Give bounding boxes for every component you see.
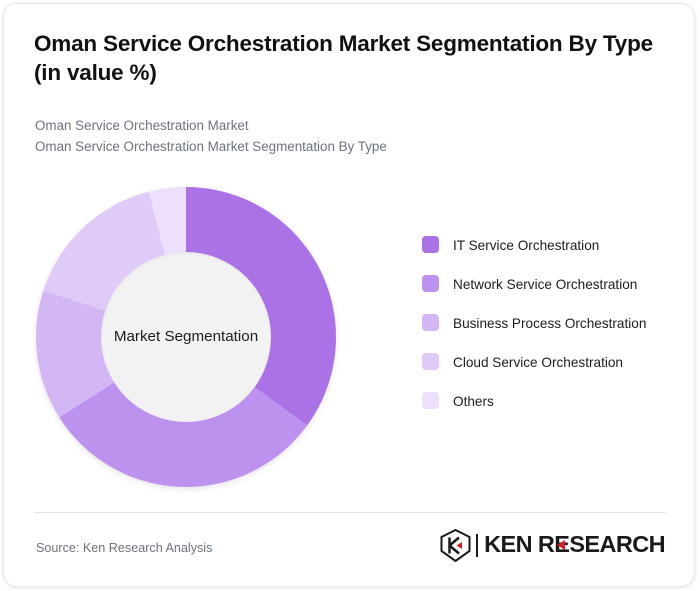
legend-item[interactable]: Others [422, 391, 684, 413]
subtitle-line-1: Oman Service Orchestration Market [35, 116, 655, 137]
logo-text-ken: KEN R [484, 533, 554, 557]
legend-swatch [422, 392, 439, 409]
chart-legend: IT Service OrchestrationNetwork Service … [422, 235, 684, 430]
chart-card: Oman Service Orchestration Market Segmen… [3, 3, 695, 587]
source-note: Source: Ken Research Analysis [36, 541, 212, 555]
legend-item[interactable]: Cloud Service Orchestration [422, 352, 684, 374]
legend-item[interactable]: Business Process Orchestration [422, 313, 684, 335]
subtitle-block: Oman Service Orchestration Market Oman S… [35, 116, 655, 158]
logo-wordmark: KEN R E SEARCH [484, 533, 665, 557]
legend-label: Cloud Service Orchestration [453, 352, 623, 374]
legend-label: IT Service Orchestration [453, 235, 599, 257]
donut-chart: Market Segmentation [36, 187, 336, 487]
logo-divider [476, 534, 478, 557]
legend-label: Network Service Orchestration [453, 274, 637, 296]
logo-triangle-icon [557, 540, 565, 550]
footer-divider [34, 512, 666, 513]
logo-text-e-wrap: E [554, 533, 569, 557]
subtitle-line-2: Oman Service Orchestration Market Segmen… [35, 137, 655, 158]
legend-label: Others [453, 391, 494, 413]
ken-shield-icon [440, 529, 471, 562]
ken-research-logo: KEN R E SEARCH [440, 528, 665, 562]
legend-swatch [422, 275, 439, 292]
donut-center-label: Market Segmentation [114, 328, 258, 346]
legend-swatch [422, 353, 439, 370]
legend-label: Business Process Orchestration [453, 313, 646, 335]
logo-text-search: SEARCH [569, 533, 665, 557]
page-title: Oman Service Orchestration Market Segmen… [34, 30, 674, 88]
legend-item[interactable]: Network Service Orchestration [422, 274, 684, 296]
legend-item[interactable]: IT Service Orchestration [422, 235, 684, 257]
legend-swatch [422, 236, 439, 253]
legend-swatch [422, 314, 439, 331]
donut-hole: Market Segmentation [101, 252, 271, 422]
